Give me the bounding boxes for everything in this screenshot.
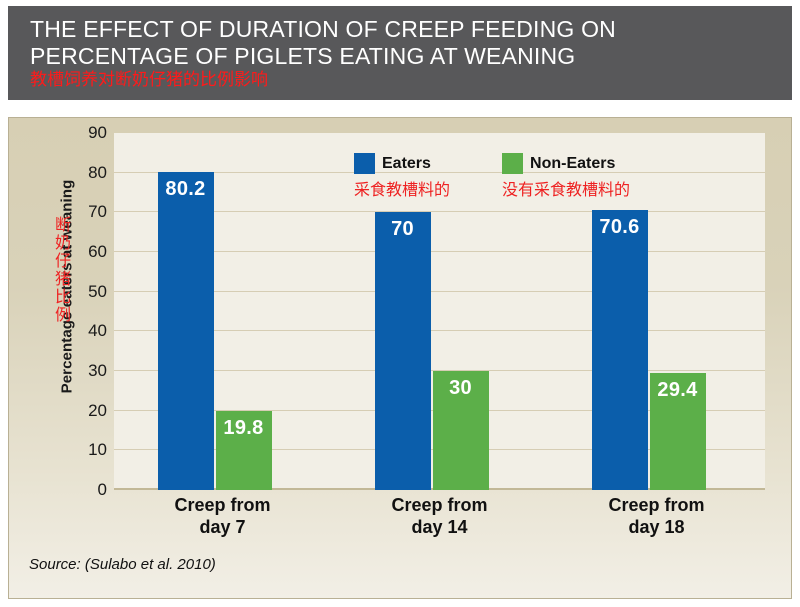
y-axis-tick-labels: 0102030405060708090 <box>71 118 107 600</box>
chart-panel: Percentage eaters at weaning 断奶仔猪比例 0102… <box>8 117 792 599</box>
bar-value-label: 30 <box>433 377 489 400</box>
legend-swatch-non-eaters <box>502 153 523 174</box>
legend-label-non-eaters-chinese: 没有采食教槽料的 <box>502 176 630 200</box>
y-axis-title-chinese-char: 仔 <box>53 252 73 270</box>
page-title: THE EFFECT OF DURATION OF CREEP FEEDING … <box>30 16 792 70</box>
bar-non-eaters-group-2[interactable]: 30 <box>433 371 489 490</box>
plot-area: 80.219.8703070.629.4 Eaters 采食教槽料的 Non-E… <box>114 133 765 490</box>
legend-label-eaters: Eaters <box>382 155 431 173</box>
chart-legend: Eaters 采食教槽料的 Non-Eaters 没有采食教槽料的 <box>354 153 630 200</box>
y-axis-tick-label: 0 <box>98 480 107 500</box>
y-axis-tick-label: 50 <box>88 282 107 302</box>
x-axis-tick-label: Creep from day 7 <box>114 494 331 538</box>
y-axis-tick-label: 80 <box>88 163 107 183</box>
bar-eaters-group-3[interactable]: 70.6 <box>592 210 648 490</box>
bar-non-eaters-group-1[interactable]: 19.8 <box>216 411 272 490</box>
y-axis-title-chinese-char: 例 <box>53 306 73 324</box>
bar-value-label: 80.2 <box>158 178 214 201</box>
y-axis-tick-label: 90 <box>88 123 107 143</box>
y-axis-title-chinese: 断奶仔猪比例 <box>53 216 73 324</box>
bar-value-label: 70 <box>375 218 431 241</box>
source-note: Source: (Sulabo et al. 2010) <box>29 556 216 573</box>
legend-label-eaters-chinese: 采食教槽料的 <box>354 176 450 200</box>
y-axis-tick-label: 20 <box>88 401 107 421</box>
y-axis-tick-label: 10 <box>88 440 107 460</box>
bar-eaters-group-1[interactable]: 80.2 <box>158 172 214 490</box>
y-axis-tick-label: 40 <box>88 321 107 341</box>
y-axis-tick-label: 70 <box>88 202 107 222</box>
legend-item-non-eaters: Non-Eaters 没有采食教槽料的 <box>502 153 630 200</box>
y-axis-title-chinese-char: 断 <box>53 216 73 234</box>
y-axis-title-chinese-char: 猪 <box>53 270 73 288</box>
legend-swatch-eaters <box>354 153 375 174</box>
page-title-chinese: 教槽饲养对断奶仔猪的比例影响 <box>30 71 792 90</box>
legend-label-non-eaters: Non-Eaters <box>530 155 615 173</box>
bar-eaters-group-2[interactable]: 70 <box>375 212 431 490</box>
legend-item-eaters: Eaters 采食教槽料的 <box>354 153 450 200</box>
x-axis-tick-label: Creep from day 14 <box>331 494 548 538</box>
bar-value-label: 70.6 <box>592 216 648 239</box>
y-axis-title-chinese-char: 奶 <box>53 234 73 252</box>
header-banner: THE EFFECT OF DURATION OF CREEP FEEDING … <box>8 6 792 100</box>
y-axis-tick-label: 30 <box>88 361 107 381</box>
x-axis-tick-label: Creep from day 18 <box>548 494 765 538</box>
bar-value-label: 19.8 <box>216 417 272 440</box>
x-axis-tick-labels: Creep from day 7Creep from day 14Creep f… <box>114 494 765 554</box>
bar-non-eaters-group-3[interactable]: 29.4 <box>650 373 706 490</box>
bar-value-label: 29.4 <box>650 379 706 402</box>
y-axis-tick-label: 60 <box>88 242 107 262</box>
y-axis-title-chinese-char: 比 <box>53 288 73 306</box>
